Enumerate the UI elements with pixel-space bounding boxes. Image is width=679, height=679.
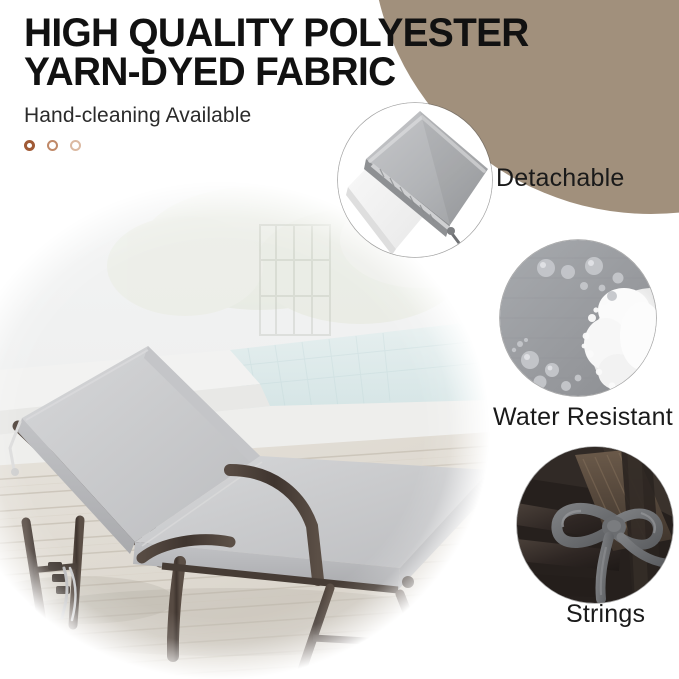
page-title-line-2: YARN-DYED FABRIC [24,53,529,92]
dot-decoration [24,140,544,151]
circle-dot-icon-1 [24,140,35,151]
page-subtitle: Hand-cleaning Available [24,104,544,128]
callout-water-resistant [500,240,656,396]
infographic-canvas: HIGH QUALITY POLYESTER YARN-DYED FABRIC … [0,0,679,679]
callout-strings [517,447,673,603]
circle-dot-icon-2 [47,140,58,151]
callout-label-water-resistant: Water Resistant [493,403,673,432]
callout-label-strings: Strings [566,600,645,629]
callout-label-detachable: Detachable [496,164,624,193]
page-title-line-1: HIGH QUALITY POLYESTER [24,14,529,53]
header-block: HIGH QUALITY POLYESTER YARN-DYED FABRIC … [24,14,544,151]
circle-dot-icon-3 [70,140,81,151]
